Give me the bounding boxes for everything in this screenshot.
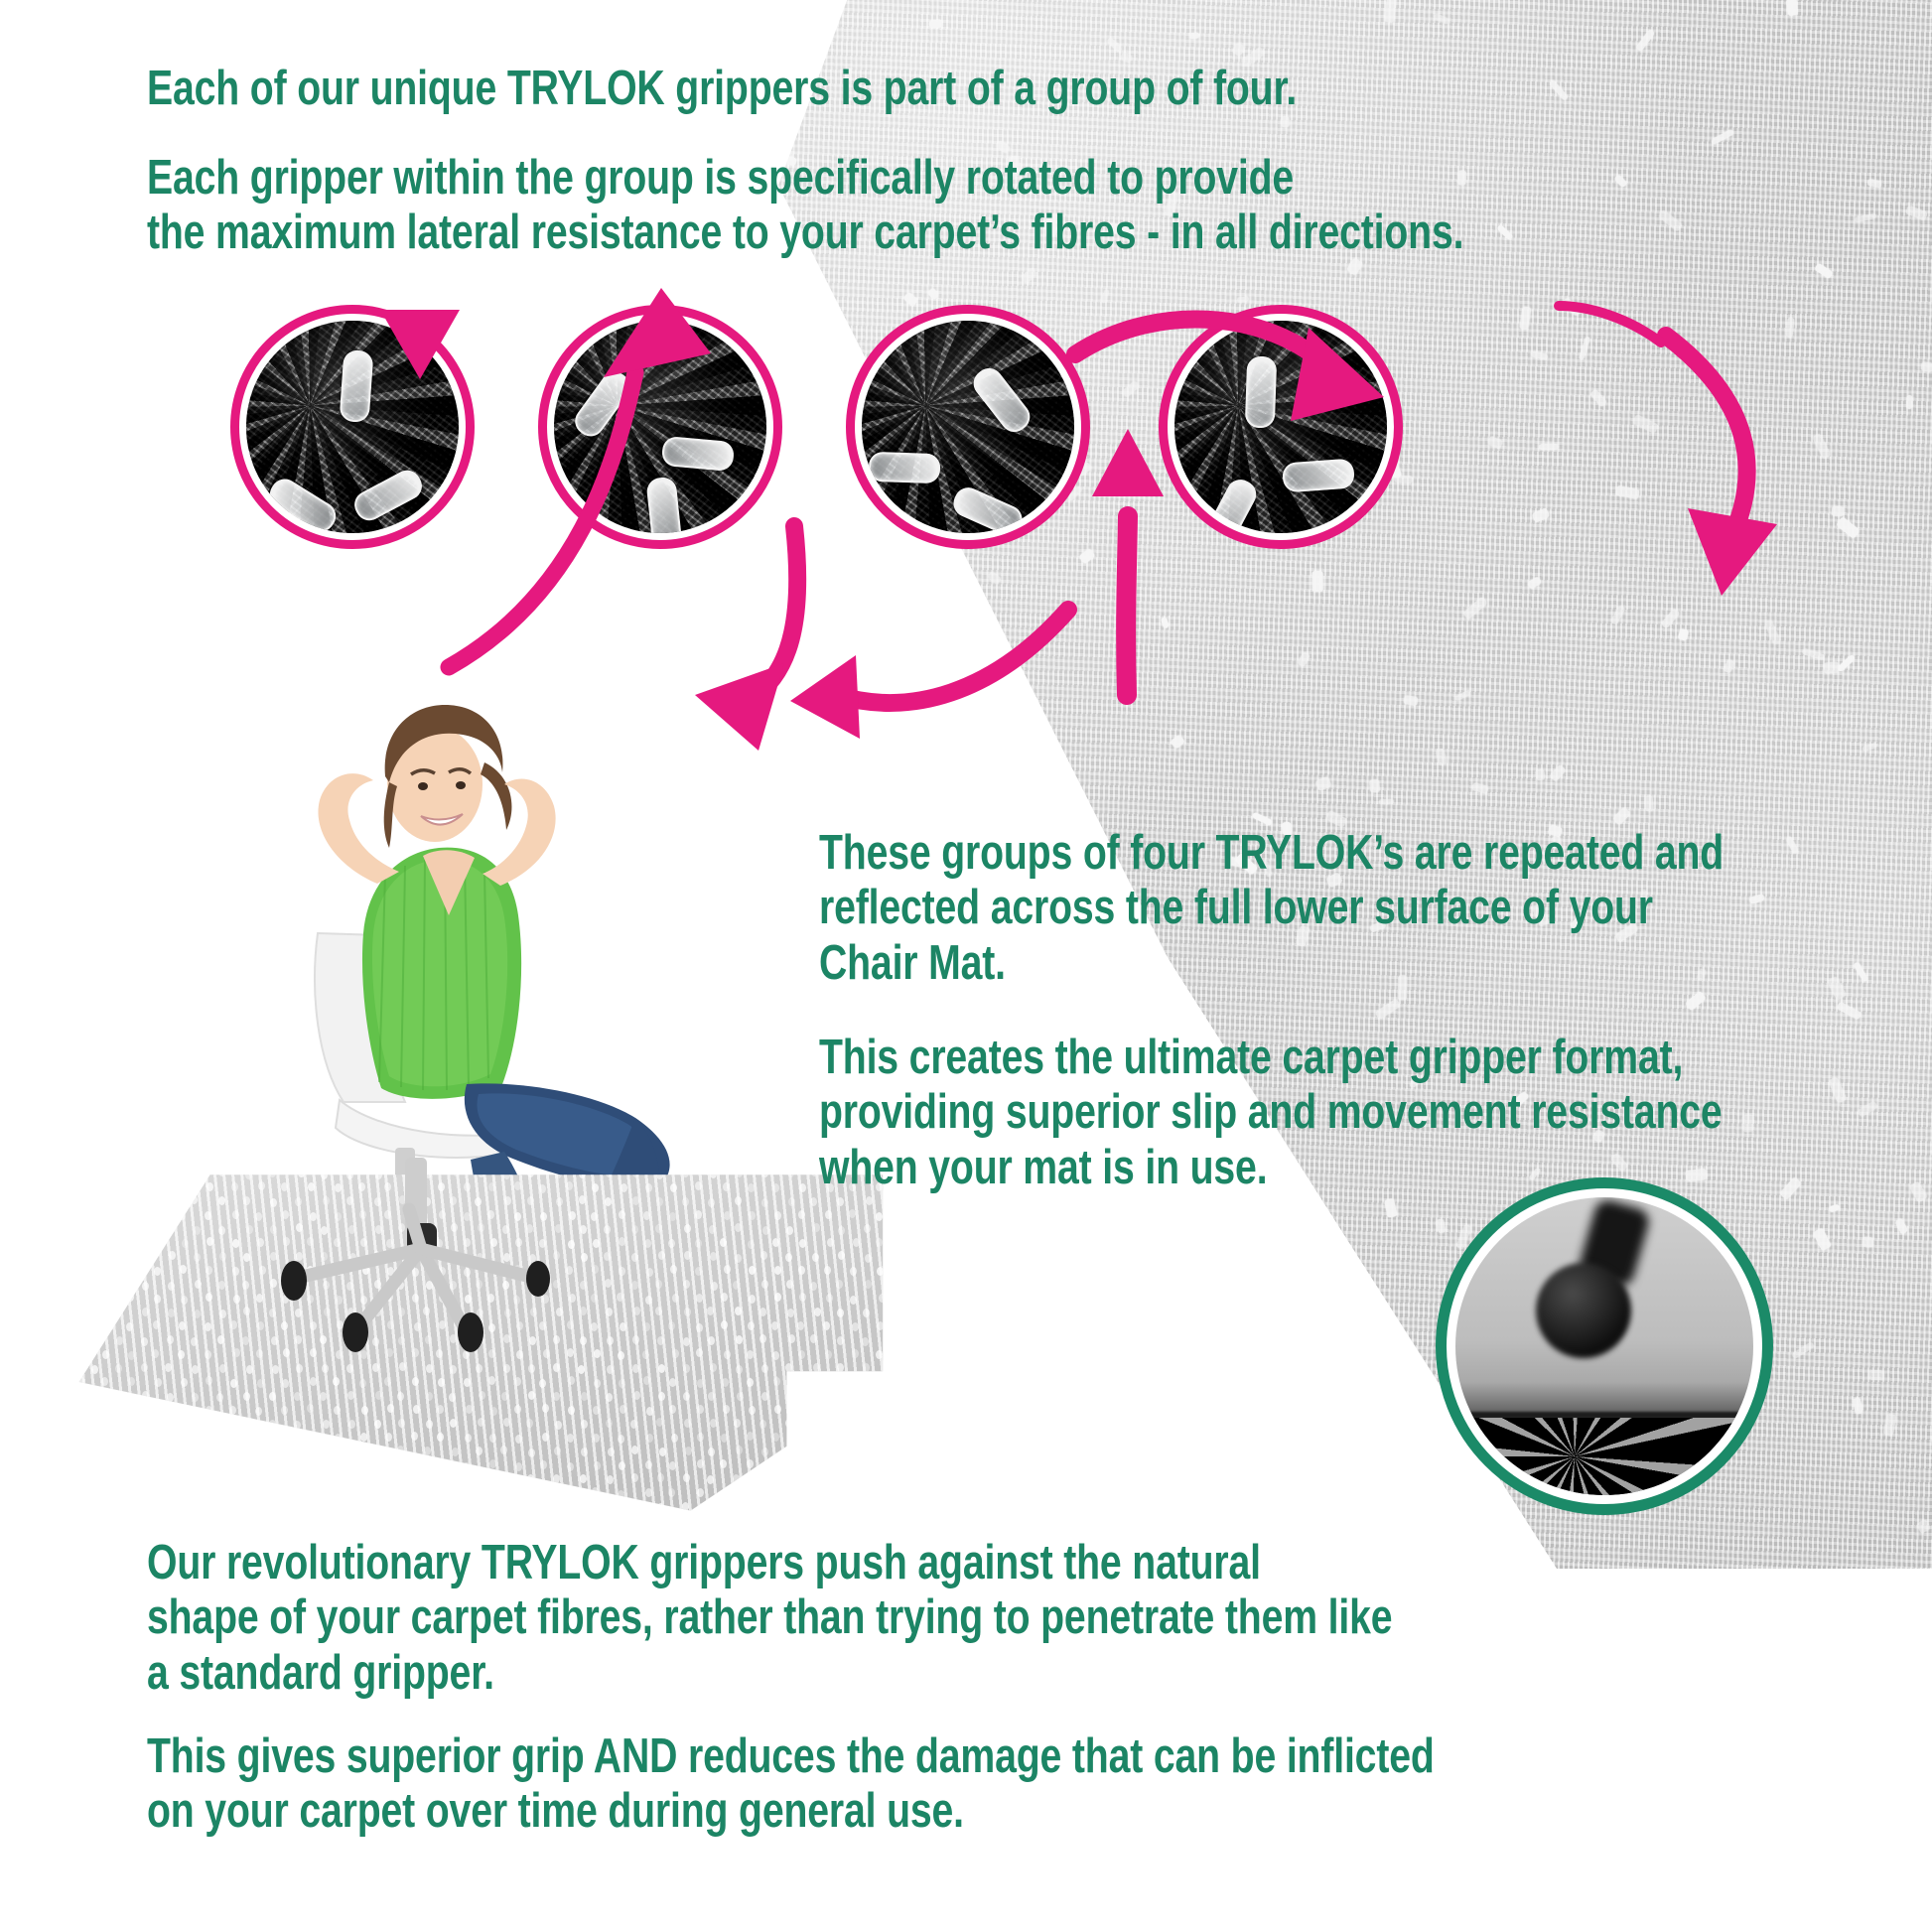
mat-stud [697, 1433, 704, 1442]
mat-stud [645, 1183, 652, 1192]
mat-stud [89, 1197, 96, 1206]
mat-stud [761, 1198, 768, 1207]
mat-stud [823, 1489, 830, 1498]
mat-stud [671, 1434, 678, 1443]
mat-stud [876, 1212, 883, 1221]
mat-stud [179, 1211, 186, 1220]
mat-stud [799, 1183, 806, 1192]
mat-stud [853, 1238, 860, 1247]
mat-stud [670, 1183, 677, 1192]
mat-stud [126, 1211, 133, 1220]
mat-stud [669, 1516, 676, 1525]
mat-stud [735, 1503, 742, 1512]
mat-stud [77, 1348, 84, 1357]
mat-stud [749, 1517, 756, 1526]
gripper-fleck [1244, 1228, 1252, 1253]
mat-stud [181, 1296, 188, 1305]
mat-stud [116, 1196, 123, 1205]
mat-stud [735, 1196, 742, 1205]
mid-paragraph-2: This creates the ultimate carpet gripper… [819, 1031, 1932, 1195]
mat-stud [748, 1321, 755, 1330]
mat-stud [774, 1266, 781, 1275]
mat-stud [631, 1281, 638, 1290]
mat-stud [115, 1475, 122, 1484]
mat-stud [747, 1459, 754, 1468]
mat-stud [401, 1503, 408, 1512]
mat-stud [91, 1365, 98, 1374]
mat-stud [787, 1474, 794, 1483]
mat-stud [735, 1254, 742, 1263]
mat-stud [452, 1448, 459, 1456]
mat-stud [155, 1181, 162, 1190]
mat-stud [500, 1474, 507, 1483]
mat-stud [903, 1350, 910, 1359]
mat-stud [64, 1224, 70, 1233]
mat-stud [114, 1252, 121, 1261]
mat-stud [385, 1433, 392, 1442]
mat-stud [735, 1223, 742, 1232]
mat-stud [632, 1503, 639, 1512]
mat-stud [126, 1516, 133, 1525]
mat-stud [154, 1434, 161, 1443]
mat-stud [853, 1404, 860, 1413]
mat-stud [64, 1253, 70, 1262]
mat-stud [734, 1419, 741, 1428]
mat-stud [438, 1515, 445, 1524]
mat-stud [191, 1195, 198, 1204]
mat-stud [876, 1405, 883, 1414]
mat-stud [618, 1490, 624, 1499]
mat-stud [437, 1461, 444, 1470]
caster-on-mat-photo [1455, 1197, 1753, 1495]
mat-stud [526, 1419, 533, 1428]
mat-stud [724, 1489, 731, 1498]
mat-stud [271, 1474, 278, 1483]
mat-stud [103, 1210, 110, 1219]
mat-stud [631, 1225, 638, 1234]
mat-stud [709, 1502, 716, 1511]
mat-stud [606, 1419, 613, 1428]
mat-stud [220, 1418, 227, 1427]
mat-stud [837, 1390, 844, 1399]
mat-stud [63, 1279, 69, 1288]
mat-stud [65, 1363, 71, 1372]
mat-stud [708, 1336, 715, 1345]
mat-stud [759, 1308, 766, 1316]
mat-stud [169, 1419, 176, 1428]
mat-stud [141, 1363, 148, 1372]
mat-stud [129, 1267, 136, 1276]
mat-stud [878, 1378, 885, 1387]
mat-stud [927, 1211, 934, 1220]
mat-stud [852, 1349, 859, 1358]
mat-stud [827, 1406, 834, 1415]
mat-stud [891, 1336, 897, 1345]
gripper-fleck [1868, 1370, 1884, 1380]
mat-stud [708, 1198, 715, 1207]
mat-stud [102, 1322, 109, 1331]
mat-stud [101, 1183, 108, 1192]
mat-stud [465, 1434, 472, 1443]
mat-stud [166, 1476, 173, 1485]
mat-stud [799, 1435, 806, 1444]
mat-stud [295, 1476, 302, 1485]
mat-stud [281, 1406, 288, 1415]
gripper-fleck [762, 814, 773, 827]
mat-stud [153, 1488, 160, 1497]
mat-stud [825, 1379, 832, 1388]
mat-stud [282, 1516, 289, 1525]
mat-stud [463, 1517, 470, 1526]
mat-stud [195, 1280, 202, 1289]
mat-stud [593, 1406, 600, 1415]
gripper-fleck [1612, 807, 1631, 826]
mat-stud [62, 1337, 69, 1346]
mat-stud [140, 1223, 147, 1232]
mat-stud [914, 1363, 921, 1372]
mat-stud [658, 1392, 665, 1401]
mat-stud [168, 1171, 175, 1179]
mat-stud [916, 1308, 923, 1316]
arrow-curve-up-1-head [604, 288, 711, 377]
mat-stud [914, 1501, 921, 1510]
mat-stud [902, 1459, 909, 1468]
mat-stud [709, 1225, 716, 1234]
mat-stud [567, 1487, 574, 1496]
chair-base-and-casters [210, 1158, 627, 1406]
mat-stud [141, 1474, 148, 1483]
mat-stud [633, 1307, 640, 1315]
mat-stud [113, 1392, 120, 1401]
mat-stud [798, 1350, 805, 1359]
mat-stud [720, 1459, 727, 1468]
mat-stud [827, 1517, 834, 1526]
mat-stud [722, 1378, 729, 1387]
mat-stud [928, 1489, 935, 1498]
mat-stud [798, 1266, 805, 1275]
mat-stud [891, 1475, 897, 1484]
mat-stud [646, 1434, 653, 1443]
mat-stud [166, 1224, 173, 1233]
mat-stud [617, 1516, 623, 1525]
mat-stud [761, 1448, 768, 1456]
mat-stud [167, 1393, 174, 1402]
mat-stud [683, 1392, 690, 1401]
mat-stud [115, 1308, 122, 1316]
mat-stud [774, 1516, 781, 1525]
mat-stud [655, 1224, 662, 1233]
mat-stud [179, 1460, 186, 1469]
mat-stud [836, 1280, 843, 1289]
mat-stud [761, 1280, 768, 1289]
mat-stud [672, 1349, 679, 1358]
mat-stud [91, 1473, 98, 1482]
mat-stud [192, 1503, 199, 1512]
mat-stud [75, 1182, 82, 1191]
mat-stud [476, 1447, 483, 1455]
mat-stud [63, 1308, 69, 1316]
mat-stud [902, 1378, 909, 1387]
mat-stud [787, 1169, 794, 1177]
mat-stud [761, 1364, 768, 1373]
mat-stud [361, 1406, 368, 1415]
mat-stud [388, 1462, 395, 1471]
gripper-fleck [1883, 1414, 1896, 1437]
mat-stud [233, 1460, 240, 1469]
mat-stud [837, 1420, 844, 1429]
mat-stud [116, 1225, 123, 1234]
mat-stud [182, 1407, 189, 1416]
mat-stud [322, 1503, 329, 1512]
mat-stud [618, 1435, 624, 1444]
mat-stud [772, 1238, 779, 1247]
mat-stud [127, 1293, 134, 1302]
mat-stud [697, 1379, 704, 1388]
mat-stud [876, 1489, 883, 1498]
mat-stud [88, 1503, 95, 1512]
mat-stud [90, 1337, 97, 1346]
mat-stud [62, 1392, 69, 1401]
mat-stud [682, 1502, 689, 1511]
mat-stud [245, 1504, 252, 1513]
mat-stud [850, 1267, 857, 1276]
mat-stud [75, 1517, 82, 1526]
gripper-fleck [1314, 776, 1331, 792]
mat-stud [748, 1240, 755, 1249]
mat-stud [206, 1406, 212, 1415]
mat-stud [788, 1197, 795, 1206]
mat-stud [192, 1365, 199, 1374]
mat-stud [772, 1433, 779, 1442]
mat-stud [926, 1351, 933, 1360]
mat-stud [116, 1171, 123, 1179]
mat-stud [129, 1406, 136, 1415]
mat-stud [800, 1487, 807, 1496]
mat-stud [542, 1433, 549, 1442]
mat-stud [322, 1476, 329, 1485]
mat-stud [927, 1459, 934, 1468]
gripper-fleck [936, 1419, 958, 1439]
mat-stud [515, 1435, 522, 1444]
mat-stud [424, 1447, 431, 1455]
mat-stud [659, 1448, 666, 1456]
mat-stud [723, 1182, 730, 1191]
mat-stud [785, 1419, 792, 1428]
mat-stud [154, 1209, 161, 1218]
mat-stud [500, 1446, 507, 1454]
mat-stud [643, 1211, 650, 1220]
mat-stud [375, 1473, 382, 1482]
gripper-fleck [1436, 1218, 1447, 1234]
mat-stud [116, 1420, 123, 1429]
mat-stud [656, 1171, 663, 1179]
gripper-fleck [947, 1518, 962, 1533]
mat-stud [787, 1501, 794, 1510]
mat-stud [334, 1461, 341, 1470]
mat-stud [930, 1406, 937, 1415]
mat-stud [142, 1282, 149, 1291]
mat-stud [838, 1251, 845, 1260]
mat-stud [568, 1406, 575, 1415]
gripper-fleck [1030, 1290, 1050, 1309]
mat-stud [826, 1461, 833, 1470]
mat-stud [760, 1251, 767, 1260]
mat-stud [438, 1487, 445, 1496]
mat-stud [682, 1169, 689, 1177]
mat-stud [451, 1502, 458, 1511]
mat-stud [785, 1253, 792, 1262]
mat-stud [283, 1487, 290, 1496]
mat-stud [707, 1307, 714, 1315]
mat-stud [102, 1350, 109, 1359]
mat-stud [127, 1488, 134, 1497]
mat-stud [890, 1502, 897, 1511]
mat-stud [749, 1211, 756, 1220]
gripper-fleck [1829, 1204, 1841, 1213]
mat-stud [877, 1321, 884, 1330]
mat-stud [514, 1489, 521, 1498]
mat-stud [195, 1447, 202, 1455]
mat-stud [890, 1225, 897, 1234]
gripper-fleck [1088, 1317, 1105, 1341]
mat-stud [231, 1516, 238, 1525]
mat-stud [113, 1504, 120, 1513]
mat-stud [759, 1334, 766, 1343]
mat-stud [710, 1252, 717, 1261]
mat-stud [710, 1419, 717, 1428]
mat-stud [800, 1460, 807, 1469]
mat-stud [747, 1432, 754, 1441]
mat-stud [90, 1252, 97, 1261]
mat-stud [697, 1405, 704, 1414]
mat-stud [128, 1351, 135, 1360]
mat-stud [155, 1406, 162, 1415]
mat-stud [633, 1391, 640, 1400]
mat-stud [863, 1309, 870, 1317]
mat-stud [489, 1516, 496, 1525]
mat-stud [863, 1501, 870, 1510]
mat-stud [142, 1418, 149, 1427]
mat-stud [851, 1432, 858, 1441]
mat-stud [165, 1363, 172, 1372]
mat-stud [232, 1434, 239, 1443]
mat-stud [554, 1447, 561, 1455]
arrow-curve-outer-head [1688, 508, 1777, 596]
mat-stud [837, 1309, 844, 1317]
mat-stud [77, 1268, 84, 1277]
mat-stud [178, 1350, 185, 1359]
gripper-fleck [953, 1260, 967, 1274]
mat-stud [900, 1320, 907, 1329]
mat-stud [360, 1433, 367, 1442]
mat-stud [437, 1405, 444, 1414]
mat-stud [903, 1238, 910, 1247]
mat-stud [837, 1197, 844, 1206]
mat-stud [774, 1405, 781, 1414]
mat-stud [581, 1420, 588, 1429]
mat-stud [865, 1475, 872, 1484]
mat-stud [929, 1294, 936, 1303]
mat-stud [116, 1280, 123, 1289]
mat-stud [877, 1462, 884, 1471]
mat-stud [892, 1252, 898, 1261]
mat-stud [772, 1351, 779, 1360]
infographic-page: Each of our unique TRYLOK grippers is pa… [0, 0, 1932, 1932]
mat-stud [555, 1421, 562, 1430]
mat-stud [631, 1446, 638, 1454]
mat-stud [683, 1280, 690, 1289]
mat-stud [619, 1461, 625, 1470]
mat-stud [891, 1308, 897, 1316]
mat-stud [917, 1280, 924, 1289]
mat-stud [182, 1183, 189, 1192]
mat-stud [646, 1518, 653, 1527]
mat-stud [358, 1459, 365, 1468]
gripper-fleck [1852, 1398, 1863, 1416]
mat-stud [827, 1434, 834, 1443]
mat-stud [644, 1239, 651, 1248]
mat-stud [180, 1433, 187, 1442]
mat-stud [813, 1502, 820, 1511]
mat-stud [490, 1407, 497, 1416]
mat-stud [736, 1169, 743, 1177]
mat-stud [771, 1488, 778, 1497]
mat-stud [668, 1488, 675, 1497]
gripper-fleck [1370, 1453, 1382, 1467]
mat-stud [143, 1170, 150, 1178]
mat-stud [645, 1296, 652, 1305]
mat-stud [903, 1517, 910, 1526]
gripper-fleck [1644, 795, 1654, 812]
mat-stud [798, 1210, 805, 1219]
mat-stud [926, 1237, 933, 1246]
mat-stud [760, 1502, 767, 1511]
mat-stud [774, 1293, 781, 1302]
mat-stud [258, 1487, 265, 1496]
arrow-curve-right-stroke [1075, 319, 1335, 375]
mat-stud [141, 1337, 148, 1346]
mat-stud [580, 1474, 587, 1483]
gripper-fleck [1030, 1320, 1045, 1339]
gripper-fleck [1046, 1354, 1061, 1369]
mat-stud [710, 1363, 717, 1372]
mat-stud [655, 1280, 662, 1289]
mat-stud [851, 1461, 858, 1470]
caster-wheel [1536, 1263, 1631, 1358]
mat-stud [207, 1461, 214, 1470]
mat-stud [75, 1459, 82, 1468]
mat-stud [194, 1418, 201, 1427]
mat-stud [514, 1405, 521, 1414]
mat-stud [916, 1475, 923, 1484]
mat-stud [104, 1296, 111, 1305]
mat-stud [631, 1473, 638, 1482]
mat-stud [668, 1239, 675, 1248]
mat-stud [334, 1406, 341, 1415]
mat-stud [127, 1433, 134, 1442]
mat-stud [747, 1378, 754, 1387]
mat-stud [850, 1296, 857, 1305]
mat-stud [862, 1337, 869, 1346]
mat-stud [747, 1489, 754, 1498]
mat-stud [812, 1253, 819, 1262]
mat-stud [630, 1420, 637, 1429]
mat-stud [849, 1209, 856, 1218]
mat-stud [142, 1391, 149, 1400]
mat-stud [78, 1487, 85, 1496]
mat-stud [424, 1474, 431, 1483]
mat-stud [800, 1377, 807, 1386]
